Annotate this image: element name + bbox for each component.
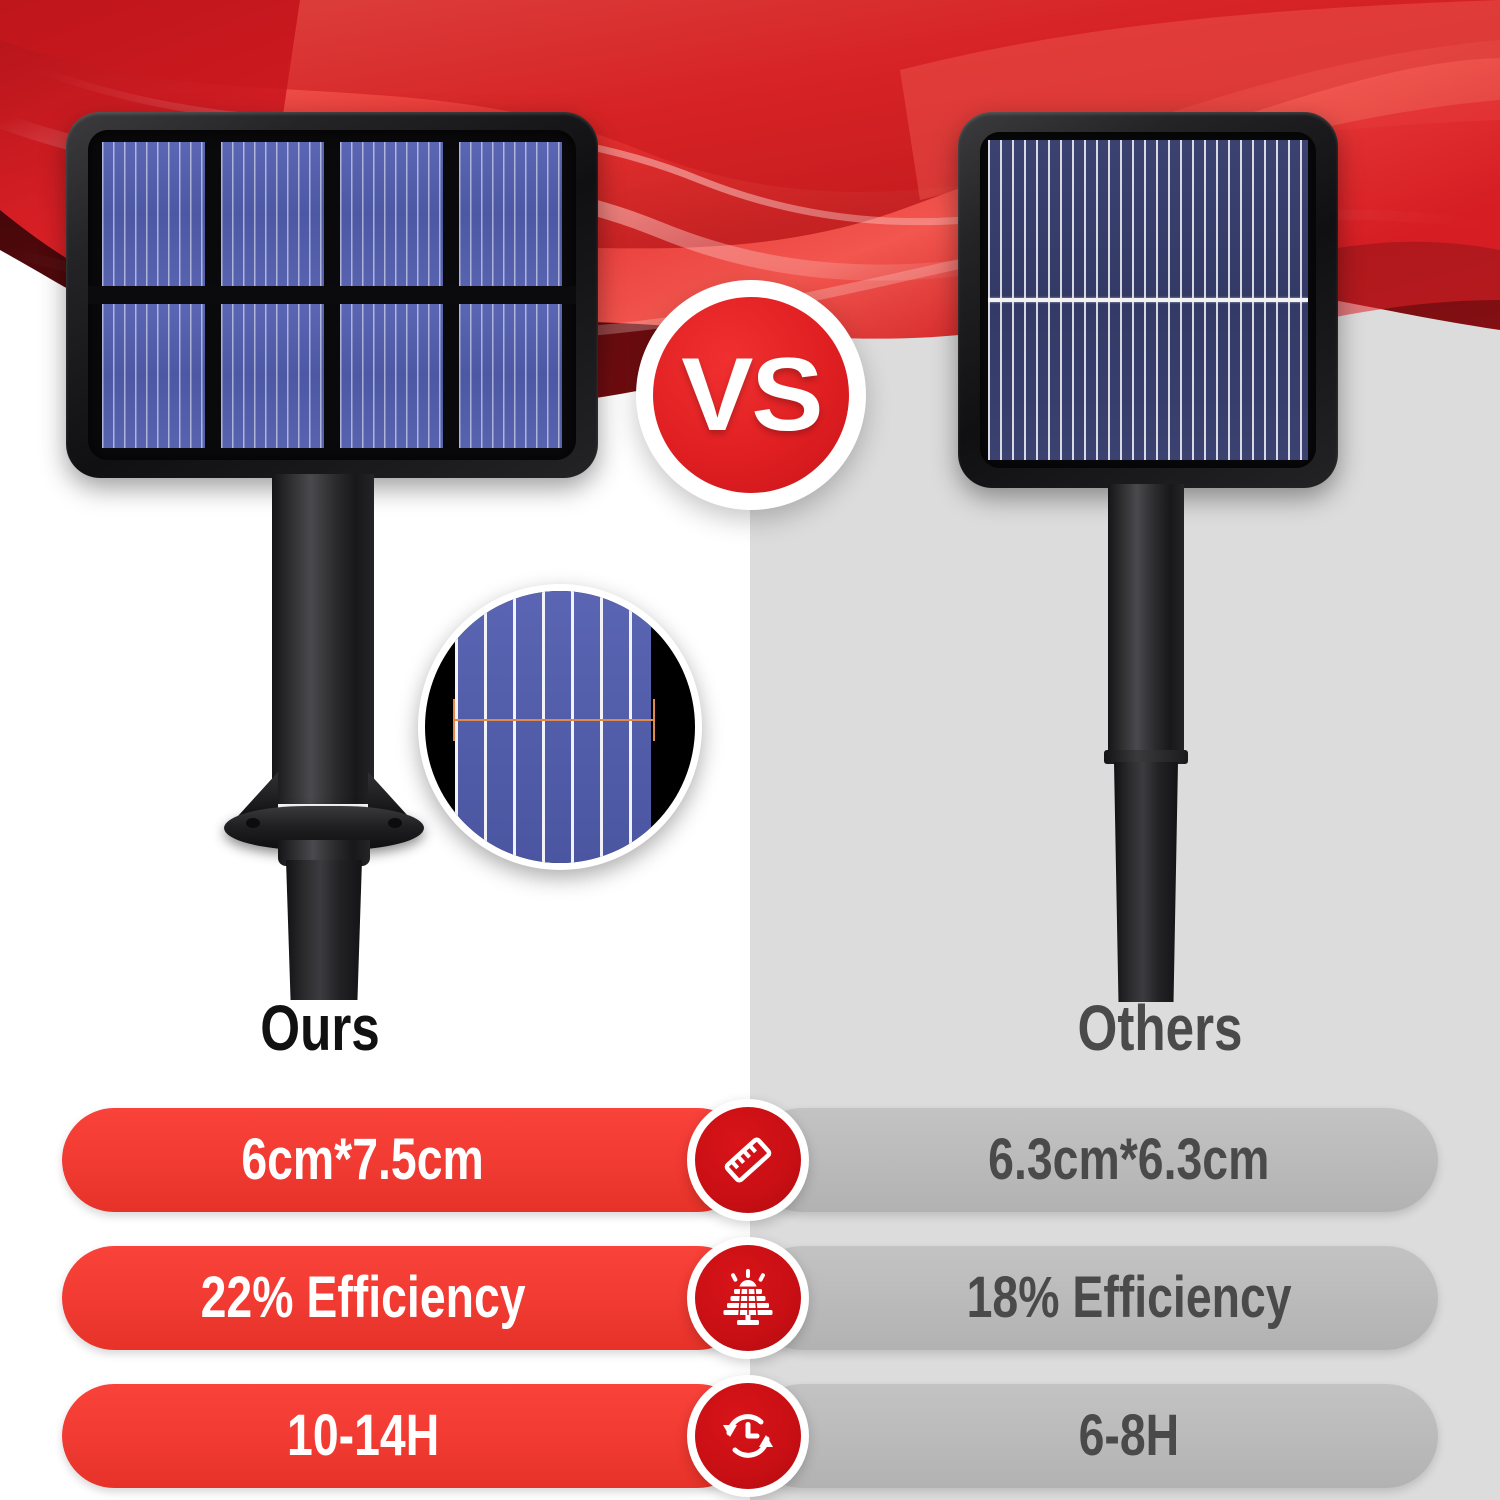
solar-cell [221,142,324,287]
ruler-icon [695,1107,801,1213]
others-value-pill: 18% Efficiency [750,1246,1438,1350]
solar-panel-ours [66,112,598,478]
ground-stake-ours [286,860,362,1000]
comparison-row-efficiency: 22% Efficiency 18% Efficiency [0,1246,1500,1350]
measurement-tick-right [653,699,655,741]
product-label-ours: Ours [168,996,472,1060]
solar-cell [102,303,205,448]
vs-badge: VS [636,280,866,510]
ours-value-pill: 6cm*7.5cm [62,1108,750,1212]
magnified-solar-cell [455,584,651,870]
ours-value-pill: 10-14H [62,1384,750,1488]
busbar-line [988,298,1308,302]
others-value-pill: 6.3cm*6.3cm [750,1108,1438,1212]
others-value-text: 6.3cm*6.3cm [988,1131,1269,1189]
solar-cell [459,142,562,287]
panel-glass-others [980,132,1316,468]
panel-center-divider [88,286,576,304]
comparison-row-runtime: 10-14H 6-8H [0,1384,1500,1488]
mounting-pole-others [1108,484,1184,754]
solar-cell [988,140,1308,460]
solar-cell [102,142,205,287]
panel-glass-ours [88,130,576,460]
flange-screw-right [388,818,402,828]
metric-icon-wrapper [687,1099,809,1221]
metric-icon-wrapper [687,1375,809,1497]
comparison-infographic: Ours Others VS 6cm*7.5cm 6.3cm*6.3cm [0,0,1500,1500]
comparison-row-panel-size: 6cm*7.5cm 6.3cm*6.3cm [0,1108,1500,1212]
pole-joint-others [1104,750,1188,764]
solar-cell [221,303,324,448]
product-label-others: Others [1000,996,1320,1060]
cell-detail-magnifier [418,584,702,870]
flange-screw-left [246,818,260,828]
ours-value-text: 10-14H [287,1407,439,1465]
vs-badge-disc: VS [653,297,849,493]
solar-panel-others [958,112,1338,488]
measurement-line [453,719,655,721]
others-value-pill: 6-8H [750,1384,1438,1488]
solar-panel-icon [695,1245,801,1351]
ours-value-text: 22% Efficiency [201,1269,526,1327]
others-value-text: 18% Efficiency [967,1269,1292,1327]
ours-value-pill: 22% Efficiency [62,1246,750,1350]
mounting-pole-ours [272,474,374,804]
ours-value-text: 6cm*7.5cm [242,1131,485,1189]
ground-stake-others [1114,762,1178,1002]
vs-label: VS [681,343,821,447]
solar-cell [340,303,443,448]
solar-cell [459,303,562,448]
metric-icon-wrapper [687,1237,809,1359]
measurement-tick-left [453,699,455,741]
clock-refresh-icon [695,1383,801,1489]
solar-cell [340,142,443,287]
others-value-text: 6-8H [1079,1407,1180,1465]
